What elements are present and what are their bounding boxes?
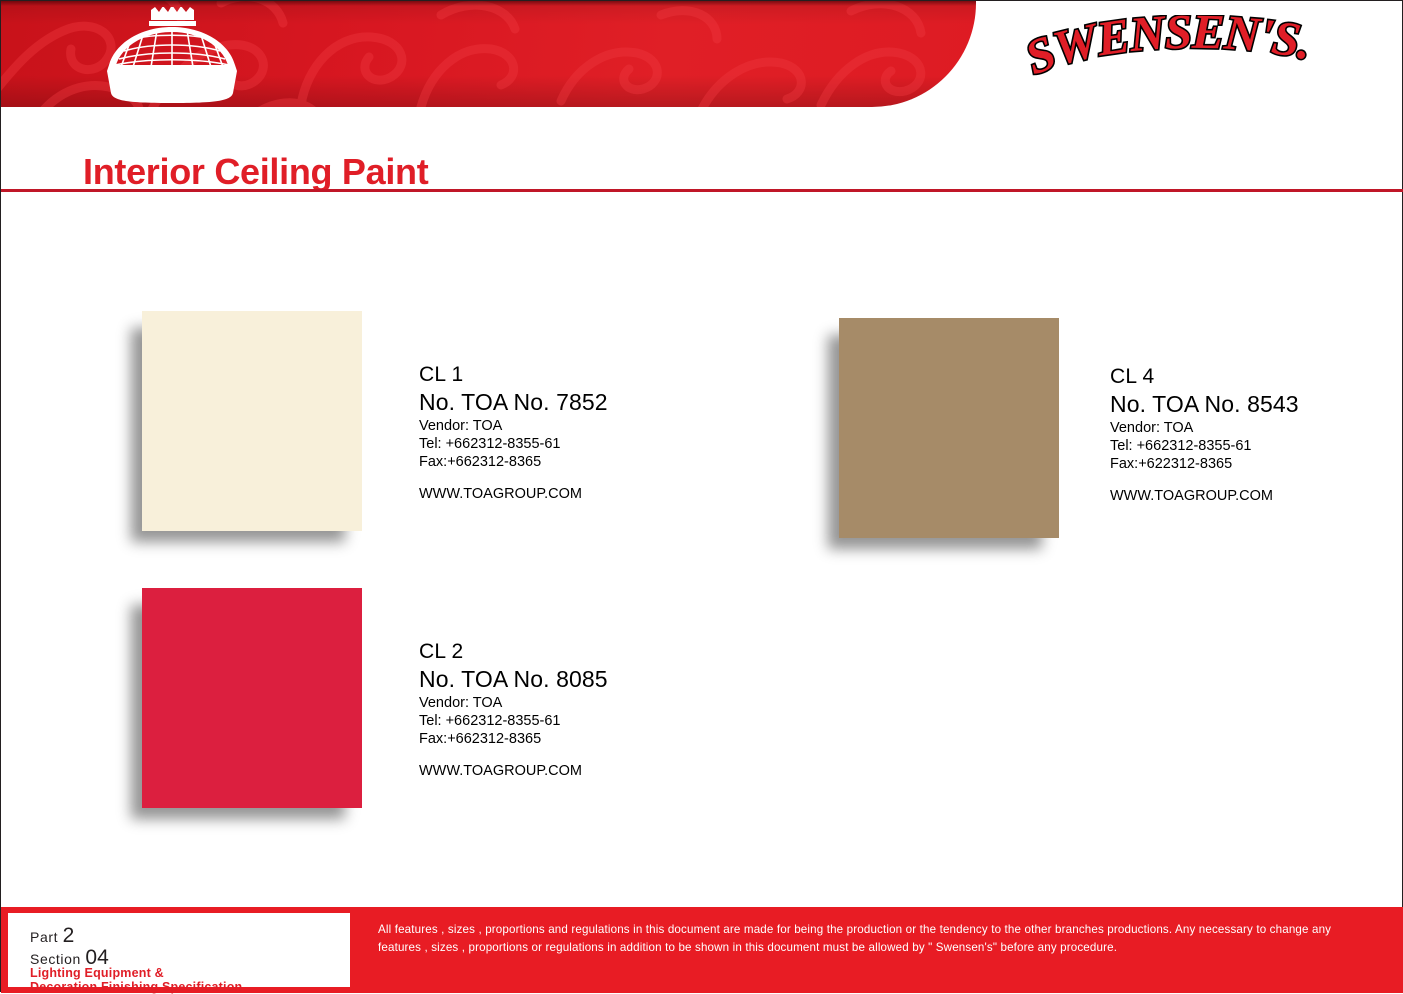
swatch-tel: Tel: +662312-8355-61 [419,435,608,453]
swatch-toa-number: No. TOA No. 8085 [419,665,608,694]
swatch-website[interactable]: WWW.TOAGROUP.COM [419,762,608,780]
swensens-wordmark-logo: SWENSEN'S. [1025,15,1355,97]
swatch-tel: Tel: +662312-8355-61 [419,712,608,730]
footer-section-label: Section [30,951,81,967]
swatch-tel: Tel: +662312-8355-61 [1110,437,1299,455]
color-chip-cl-2[interactable] [142,588,362,808]
swatch-toa-number: No. TOA No. 7852 [419,388,608,417]
swatch-toa-number: No. TOA No. 8543 [1110,390,1299,419]
header-top-shade [1,1,976,6]
swatch-info-cl-4: CL 4 No. TOA No. 8543 Vendor: TOA Tel: +… [1110,363,1299,505]
swatch-card-cl-4[interactable]: CL 4 No. TOA No. 8543 Vendor: TOA Tel: +… [839,318,1399,543]
footer-section-box: Part 2 Section 04 Lighting Equipment & D… [8,913,350,987]
swatch-website[interactable]: WWW.TOAGROUP.COM [1110,487,1299,505]
swensens-crown-logo-icon [93,7,251,103]
swatch-card-cl-2[interactable]: CL 2 No. TOA No. 8085 Vendor: TOA Tel: +… [142,588,1242,813]
swatch-fax: Fax:+662312-8365 [419,453,608,471]
swatch-code: CL 1 [419,361,608,388]
page-header-banner [1,1,976,107]
swatch-vendor: Vendor: TOA [419,694,608,712]
footer-disclaimer-text: All features , sizes , proportions and r… [378,921,1338,956]
footer-part-number: 2 [63,924,75,947]
swatch-vendor: Vendor: TOA [1110,419,1299,437]
swatch-fax: Fax:+622312-8365 [1110,455,1299,473]
swatch-vendor: Vendor: TOA [419,417,608,435]
footer-subtitle-line1: Lighting Equipment & [30,966,242,980]
footer-part: Part 2 [30,924,74,948]
swatch-fax: Fax:+662312-8365 [419,730,608,748]
svg-text:SWENSEN'S.: SWENSEN'S. [1025,15,1317,85]
swatch-website[interactable]: WWW.TOAGROUP.COM [419,485,608,503]
page-title: Interior Ceiling Paint [83,151,428,193]
footer-subtitle: Lighting Equipment & Decoration Finishin… [30,966,242,994]
color-chip-cl-4[interactable] [839,318,1059,538]
color-chip-cl-1[interactable] [142,311,362,531]
title-underline-rule [1,189,1403,192]
footer-part-label: Part [30,929,58,945]
swatch-info-cl-2: CL 2 No. TOA No. 8085 Vendor: TOA Tel: +… [419,638,608,780]
swatch-code: CL 2 [419,638,608,665]
swatch-code: CL 4 [1110,363,1299,390]
swatch-info-cl-1: CL 1 No. TOA No. 7852 Vendor: TOA Tel: +… [419,361,608,503]
